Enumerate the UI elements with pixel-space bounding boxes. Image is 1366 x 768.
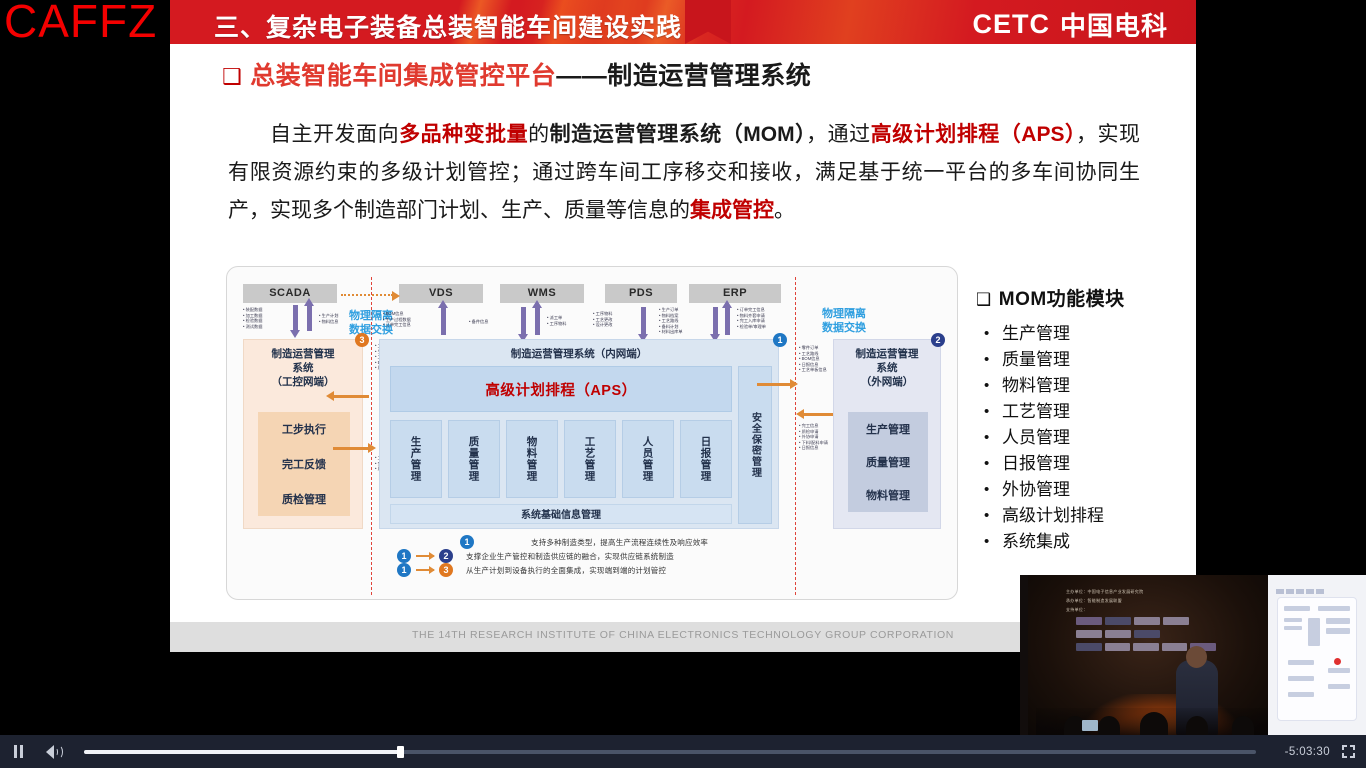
mom-module-0-label: 生产管理	[409, 436, 424, 482]
pip-chip-row-1	[1076, 630, 1216, 638]
video-player-stage: 三、复杂电子装备总装智能车间建设实践 CETC 中国电科 ❑总装智能车间集成管控…	[0, 0, 1366, 768]
slide-footer-text: THE 14TH RESEARCH INSTITUTE OF CHINA ELE…	[412, 629, 954, 641]
slide-section-title: 三、复杂电子装备总装智能车间建设实践	[214, 8, 682, 44]
connector-scada-vds	[341, 294, 393, 296]
legend-badge-1a: 1	[460, 535, 474, 549]
pds-item-list: 工序物料 工艺更改 设计更改	[593, 311, 637, 328]
ext-title-line1: 制造运营管理	[834, 347, 940, 361]
ics-module-1: 完工反馈	[258, 456, 350, 472]
badge-3: 3	[355, 333, 369, 347]
aps-banner: 高级计划排程（APS）	[390, 366, 732, 412]
mom-panel-title: 制造运营管理系统（内网端）	[380, 346, 778, 361]
pip-doc-page	[1277, 597, 1357, 721]
badge-2: 2	[931, 333, 945, 347]
mom-architecture-diagram: SCADA VDS WMS PDS ERP 物理隔离 数据交换 物理隔离 数据交…	[226, 266, 958, 600]
volume-button[interactable]	[36, 745, 72, 759]
pip-speaker-head	[1186, 646, 1207, 668]
mom-list-item-2: 物料管理	[976, 373, 1176, 399]
pds-item-2: 设计更改	[593, 322, 637, 328]
legend-text-1: 支撑企业生产管控和制造供应链的融合，实现供应链系统制造	[466, 551, 674, 562]
isolation-right-line2: 数据交换	[803, 321, 885, 335]
mom-base-label: 系统基础信息管理	[521, 510, 601, 521]
ext-module-1: 质量管理	[848, 454, 928, 470]
pause-button[interactable]	[0, 745, 36, 758]
pause-icon	[14, 745, 23, 758]
pip-chip-6	[1134, 630, 1160, 638]
ext-module-group: 生产管理 质量管理 物料管理	[848, 412, 928, 512]
para-bold-1: 制造运营管理系统（MOM）	[550, 123, 806, 146]
system-box-pds: PDS	[605, 284, 677, 303]
para-seg-1: 自主开发面向	[270, 123, 399, 146]
fullscreen-icon	[1342, 745, 1355, 758]
badge-1: 1	[773, 333, 787, 347]
para-red-2: 高级计划排程（APS）	[871, 123, 1076, 146]
isolation-right-line1: 物理隔离	[803, 307, 885, 321]
mom-module-4: 人员管理	[622, 420, 674, 498]
mom-module-2-label: 物料管理	[525, 436, 540, 482]
fullscreen-button[interactable]	[1330, 745, 1366, 758]
pip-document-panel	[1268, 575, 1366, 740]
para-seg-5: 。	[774, 199, 795, 222]
legend-text-0: 支持多种制造类型，提高生产流程连续性及响应效率	[531, 537, 708, 548]
ics-module-group: 工步执行 完工反馈 质检管理	[258, 412, 350, 516]
mom-module-2: 物料管理	[506, 420, 558, 498]
pip-screen-line-1: 承办单位：智能制造发展联盟	[1066, 596, 1216, 605]
system-box-wms: WMS	[500, 284, 584, 303]
mom-module-0: 生产管理	[390, 420, 442, 498]
legend-badge-2: 2	[439, 549, 453, 563]
seek-bar[interactable]	[84, 750, 1256, 754]
scada-out-3: 测试数据	[243, 324, 287, 330]
mom-list-item-7: 高级计划排程	[976, 503, 1176, 529]
pip-screen-text: 主办单位：中国电子信息产业发展研究院 承办单位：智能制造发展联盟 支持单位：	[1066, 587, 1216, 614]
mom-list-item-8: 系统集成	[976, 529, 1176, 555]
ics-title-line2: 系统	[244, 361, 362, 375]
ext-module-0: 生产管理	[848, 421, 928, 437]
seek-handle[interactable]	[397, 746, 404, 758]
slide-body-paragraph: 自主开发面向多品种变批量的制造运营管理系统（MOM），通过高级计划排程（APS）…	[228, 116, 1140, 230]
arrow-ics-in	[333, 395, 369, 398]
ics-panel: 制造运营管理 系统 （工控网端） 工步执行 完工反馈 质检管理	[243, 339, 363, 529]
pip-chip-4	[1076, 630, 1102, 638]
mom-module-5-label: 日报管理	[699, 436, 714, 482]
mom-list-heading: ❑MOM功能模块	[976, 284, 1176, 311]
scada-input-list: 生产计划 物料信息	[319, 313, 363, 324]
mom-list-item-1: 质量管理	[976, 347, 1176, 373]
ext-title-line2: 系统	[834, 361, 940, 375]
cetc-logo-en: CETC	[972, 9, 1050, 40]
cetc-logo-cn: 中国电科	[1060, 6, 1168, 43]
mom-module-3-label: 工艺管理	[583, 436, 598, 482]
cetc-logo: CETC 中国电科	[972, 6, 1168, 43]
vds-item-2: 订单完工信息	[383, 322, 433, 328]
external-panel: 制造运营管理 系统 （外网端） 生产管理 质量管理 物料管理	[833, 339, 941, 529]
erp-out-4: 材料出库单	[659, 329, 703, 335]
ext-module-2: 物料管理	[848, 487, 928, 503]
slide-header-bar: 三、复杂电子装备总装智能车间建设实践 CETC 中国电科	[170, 0, 1196, 44]
picture-in-picture-video[interactable]: 主办单位：中国电子信息产业发展研究院 承办单位：智能制造发展联盟 支持单位：	[1020, 575, 1366, 740]
legend-badge-3: 3	[439, 563, 453, 577]
volume-icon	[46, 745, 63, 759]
pip-chip-7	[1076, 643, 1102, 651]
header-ribbon-shape	[685, 0, 731, 44]
pip-doc-marker-icon	[1334, 658, 1341, 665]
pip-phone-screen	[1082, 720, 1098, 731]
arrow-ics-out	[333, 447, 369, 450]
wms-output-list: 备件信息	[469, 319, 509, 325]
pip-chip-0	[1076, 617, 1102, 625]
presentation-slide: 三、复杂电子装备总装智能车间建设实践 CETC 中国电科 ❑总装智能车间集成管控…	[170, 0, 1196, 652]
mom-list-item-4: 人员管理	[976, 425, 1176, 451]
legend-badge-1c: 1	[397, 563, 411, 577]
legend-arrow-1	[416, 555, 434, 557]
wms-out-0: 备件信息	[469, 319, 509, 325]
erp-in-3: 检验单/审理单	[737, 324, 787, 330]
security-label: 安全保密管理	[748, 412, 763, 478]
ics-module-0: 工步执行	[258, 421, 350, 437]
mom-list-item-5: 日报管理	[976, 451, 1176, 477]
para-red-1: 多品种变批量	[399, 123, 528, 146]
legend-row-2: 1 3 从生产计划到设备执行的全面集成，实现端到端的计划管控	[397, 563, 817, 577]
wms-in-1: 工序物料	[547, 321, 587, 327]
mom-function-module-list: ❑MOM功能模块 生产管理 质量管理 物料管理 工艺管理 人员管理 日报管理 外…	[976, 284, 1176, 555]
para-red-3: 集成管控	[690, 199, 774, 222]
vds-item-list: BOM信息 生产过程数据 订单完工信息	[383, 311, 433, 328]
system-box-scada: SCADA	[243, 284, 337, 303]
legend-badge-1b: 1	[397, 549, 411, 563]
erp-input-list: 订单完工信息 物料齐套申请 完工入库申请 检验单/审理单	[737, 307, 787, 329]
mom-module-row: 生产管理 质量管理 物料管理 工艺管理 人员管理 日报管理	[390, 420, 732, 498]
pip-conference-hall: 主办单位：中国电子信息产业发展研究院 承办单位：智能制造发展联盟 支持单位：	[1028, 575, 1268, 740]
wms-input-list: 派工单 工序物料	[547, 315, 587, 326]
mom-base-bar: 系统基础信息管理	[390, 504, 732, 524]
caffz-watermark: CAFFZ	[4, 0, 157, 48]
para-seg-3: ，通过	[806, 123, 871, 146]
system-box-erp: ERP	[689, 284, 781, 303]
mom-list-item-3: 工艺管理	[976, 399, 1176, 425]
isolation-caption-right: 物理隔离 数据交换	[803, 307, 885, 335]
erp-output-list: 生产订单 物料档案 工艺路线 备料计划 材料出库单	[659, 307, 703, 335]
pip-doc-toolbar	[1276, 581, 1356, 589]
legend-row-0: 1 支持多种制造类型，提高生产流程连续性及响应效率	[397, 535, 817, 549]
mom-module-4-label: 人员管理	[641, 436, 656, 482]
legend-text-2: 从生产计划到设备执行的全面集成，实现端到端的计划管控	[466, 565, 666, 576]
ics-module-2: 质检管理	[258, 491, 350, 507]
arrow-ext-out	[757, 383, 791, 386]
mom-list-item-6: 外协管理	[976, 477, 1176, 503]
title-bullet-icon: ❑	[222, 64, 242, 89]
ics-title-line3: （工控网端）	[244, 375, 362, 389]
para-seg-2: 的	[528, 123, 550, 146]
aps-label: 高级计划排程（APS）	[485, 379, 636, 400]
mom-module-3: 工艺管理	[564, 420, 616, 498]
pip-chip-3	[1163, 617, 1189, 625]
ext-title-line3: （外网端）	[834, 375, 940, 389]
pip-chip-9	[1133, 643, 1159, 651]
title-black-part: ——制造运营管理系统	[556, 62, 811, 90]
arrow-ext-in	[803, 413, 837, 416]
mom-list-title-text: MOM功能模块	[999, 289, 1125, 310]
ics-title-line1: 制造运营管理	[244, 347, 362, 361]
legend-arrow-2	[416, 569, 434, 571]
mom-list-item-0: 生产管理	[976, 321, 1176, 347]
video-player-controls: -5:03:30	[0, 735, 1366, 768]
time-remaining-label: -5:03:30	[1268, 746, 1330, 758]
pip-chip-1	[1105, 617, 1131, 625]
diagram-legend: 1 支持多种制造类型，提高生产流程连续性及响应效率 1 2 支撑企业生产管控和制…	[397, 535, 817, 577]
progress-fill	[84, 750, 400, 754]
pip-chip-2	[1134, 617, 1160, 625]
pip-chip-8	[1105, 643, 1131, 651]
scada-output-list: 装配数据 加工数据 检验数据 测试数据	[243, 307, 287, 329]
legend-row-1: 1 2 支撑企业生产管控和制造供应链的融合，实现供应链系统制造	[397, 549, 817, 563]
security-column: 安全保密管理	[738, 366, 772, 524]
mom-module-1-label: 质量管理	[467, 436, 482, 482]
pip-chip-row-0	[1076, 617, 1216, 625]
pip-chip-5	[1105, 630, 1131, 638]
mom-internal-panel: 制造运营管理系统（内网端） 高级计划排程（APS） 生产管理 质量管理 物料管理…	[379, 339, 779, 529]
pip-screen-line-2: 支持单位：	[1066, 605, 1216, 614]
title-red-part: 总装智能车间集成管控平台	[250, 62, 556, 90]
mom-module-1: 质量管理	[448, 420, 500, 498]
mom-list-bullet-icon: ❑	[976, 290, 992, 309]
page-title: ❑总装智能车间集成管控平台——制造运营管理系统	[222, 56, 811, 92]
pip-chip-10	[1162, 643, 1188, 651]
pip-screen-line-0: 主办单位：中国电子信息产业发展研究院	[1066, 587, 1216, 596]
scada-in-1: 物料信息	[319, 319, 363, 325]
mom-module-5: 日报管理	[680, 420, 732, 498]
